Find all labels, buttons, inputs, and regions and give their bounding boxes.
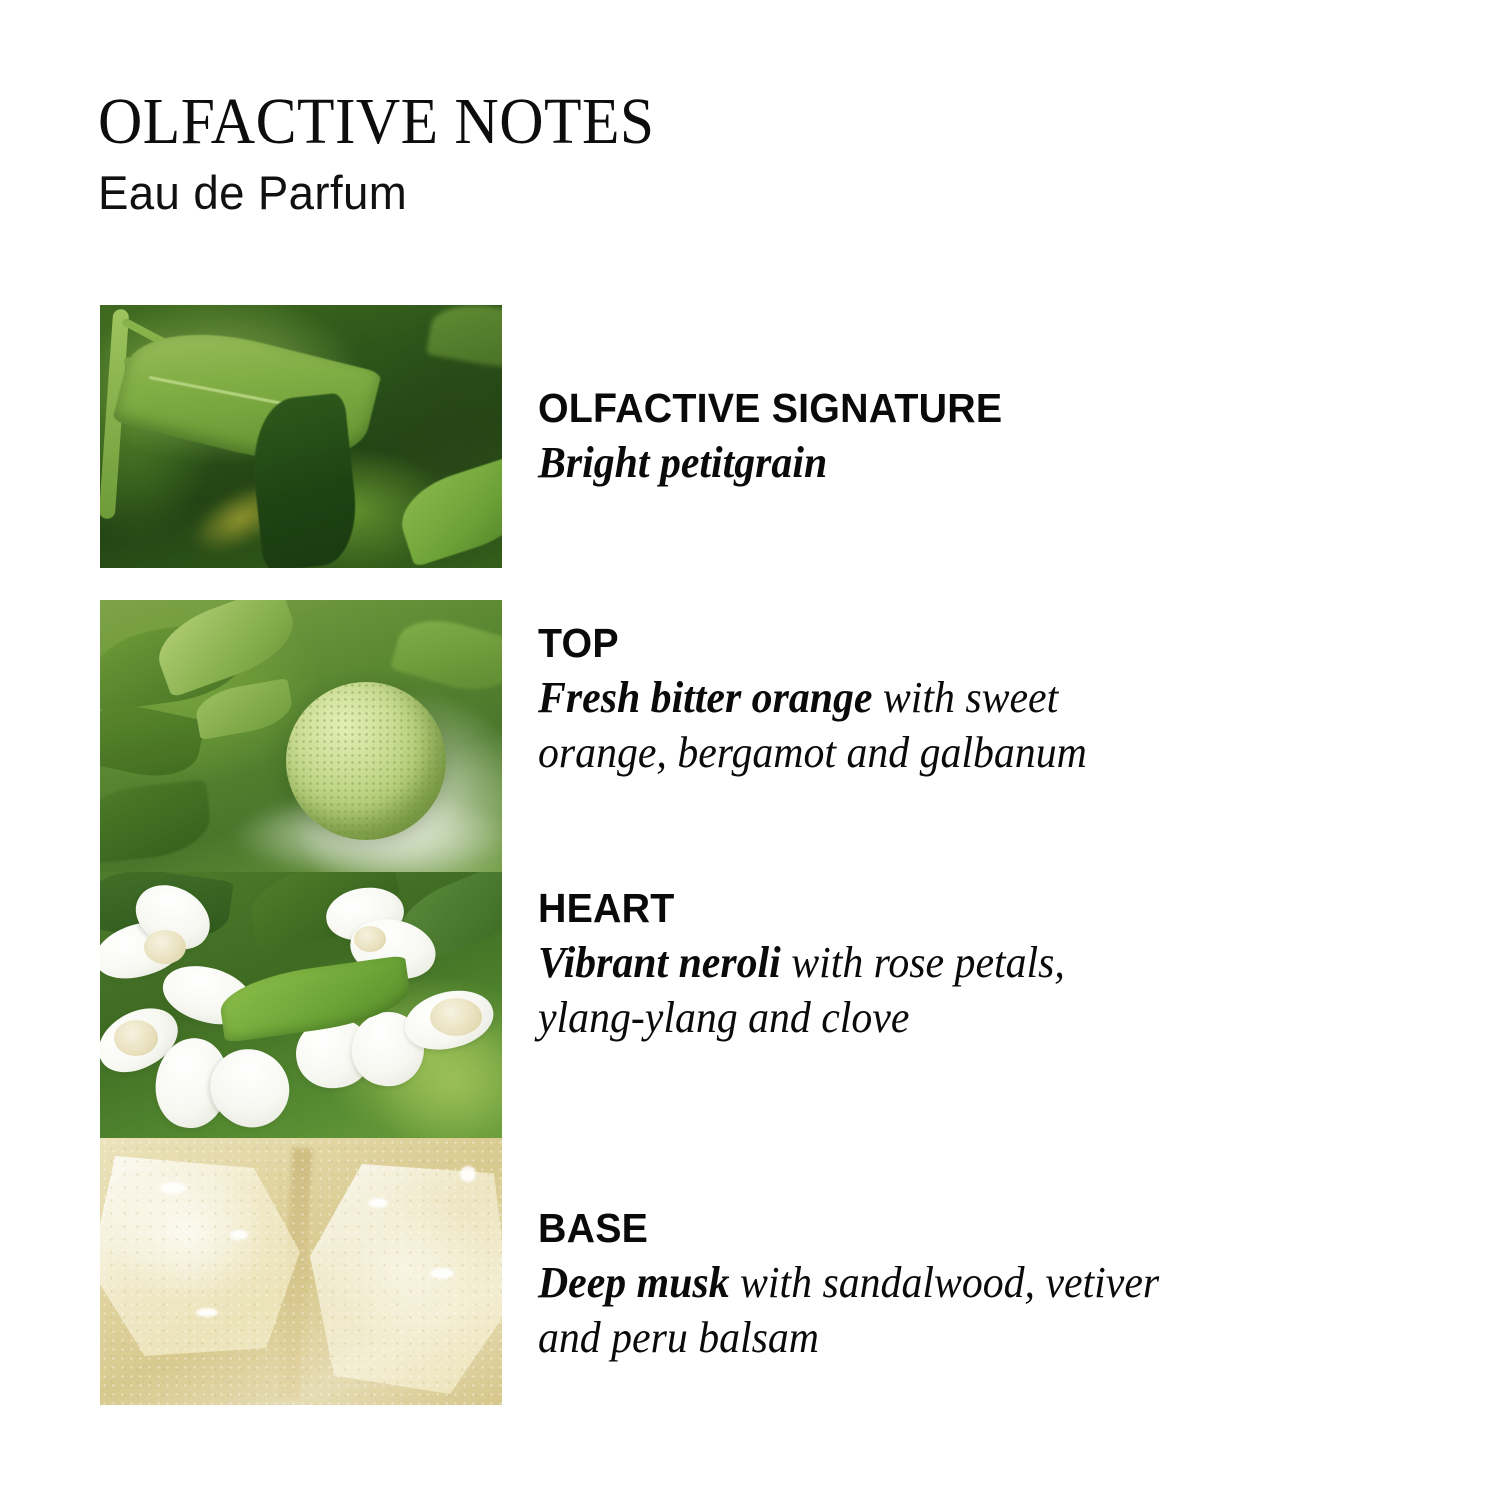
bitter-orange-fruit-photo <box>100 600 502 872</box>
leaf-shape <box>391 455 502 567</box>
page-title: OLFACTIVE NOTES <box>98 86 935 158</box>
leaf-shape <box>100 779 213 864</box>
note-heading: OLFACTIVE SIGNATURE <box>538 385 1191 431</box>
photo-gap <box>100 568 502 600</box>
resin-sparkle-shape <box>160 1182 186 1194</box>
page-header: OLFACTIVE NOTES Eau de Parfum <box>98 86 998 222</box>
orange-blossom-photo <box>100 872 502 1138</box>
page-subtitle: Eau de Parfum <box>98 164 971 222</box>
note-block-base: BASE Deep musk with sandalwood, vetiver … <box>538 1205 1218 1365</box>
note-description: Deep musk with sandalwood, vetiver and p… <box>538 1255 1203 1365</box>
bitter-orange-fruit-shape <box>286 682 446 840</box>
note-heading: BASE <box>538 1205 1191 1251</box>
olfactive-notes-page: OLFACTIVE NOTES Eau de Parfum <box>0 0 1500 1500</box>
ingredient-photo-column <box>100 305 502 1405</box>
resin-crystals-photo <box>100 1138 502 1405</box>
leaf-shape <box>426 305 502 375</box>
note-block-signature: OLFACTIVE SIGNATURE Bright petitgrain <box>538 385 1218 490</box>
blossom-stamen-shape <box>354 926 386 952</box>
note-description: Vibrant neroli with rose petals, ylang-y… <box>538 935 1070 1045</box>
note-description: Fresh bitter orange with sweet orange, b… <box>538 670 1184 780</box>
note-description: Bright petitgrain <box>538 435 1184 490</box>
blossom-stamen-shape <box>144 930 186 964</box>
resin-sparkle-shape <box>230 1230 248 1240</box>
note-heading: HEART <box>538 885 1191 931</box>
blossom-stamen-shape <box>430 998 482 1036</box>
note-accent: Deep musk <box>538 1258 730 1307</box>
resin-sparkle-shape <box>368 1198 388 1208</box>
leaf-shape <box>390 609 502 701</box>
resin-sparkle-shape <box>196 1308 218 1317</box>
resin-sparkle-shape <box>430 1268 454 1279</box>
resin-sparkle-shape <box>460 1166 476 1182</box>
note-block-top: TOP Fresh bitter orange with sweet orang… <box>538 620 1218 780</box>
citrus-leaves-photo <box>100 305 502 568</box>
leaf-shape <box>100 696 206 785</box>
note-accent: Bright petitgrain <box>538 438 827 487</box>
note-heading: TOP <box>538 620 1191 666</box>
note-block-heart: HEART Vibrant neroli with rose petals, y… <box>538 885 1218 1045</box>
note-accent: Vibrant neroli <box>538 938 781 987</box>
note-accent: Fresh bitter orange <box>538 673 872 722</box>
blossom-stamen-shape <box>114 1020 158 1056</box>
